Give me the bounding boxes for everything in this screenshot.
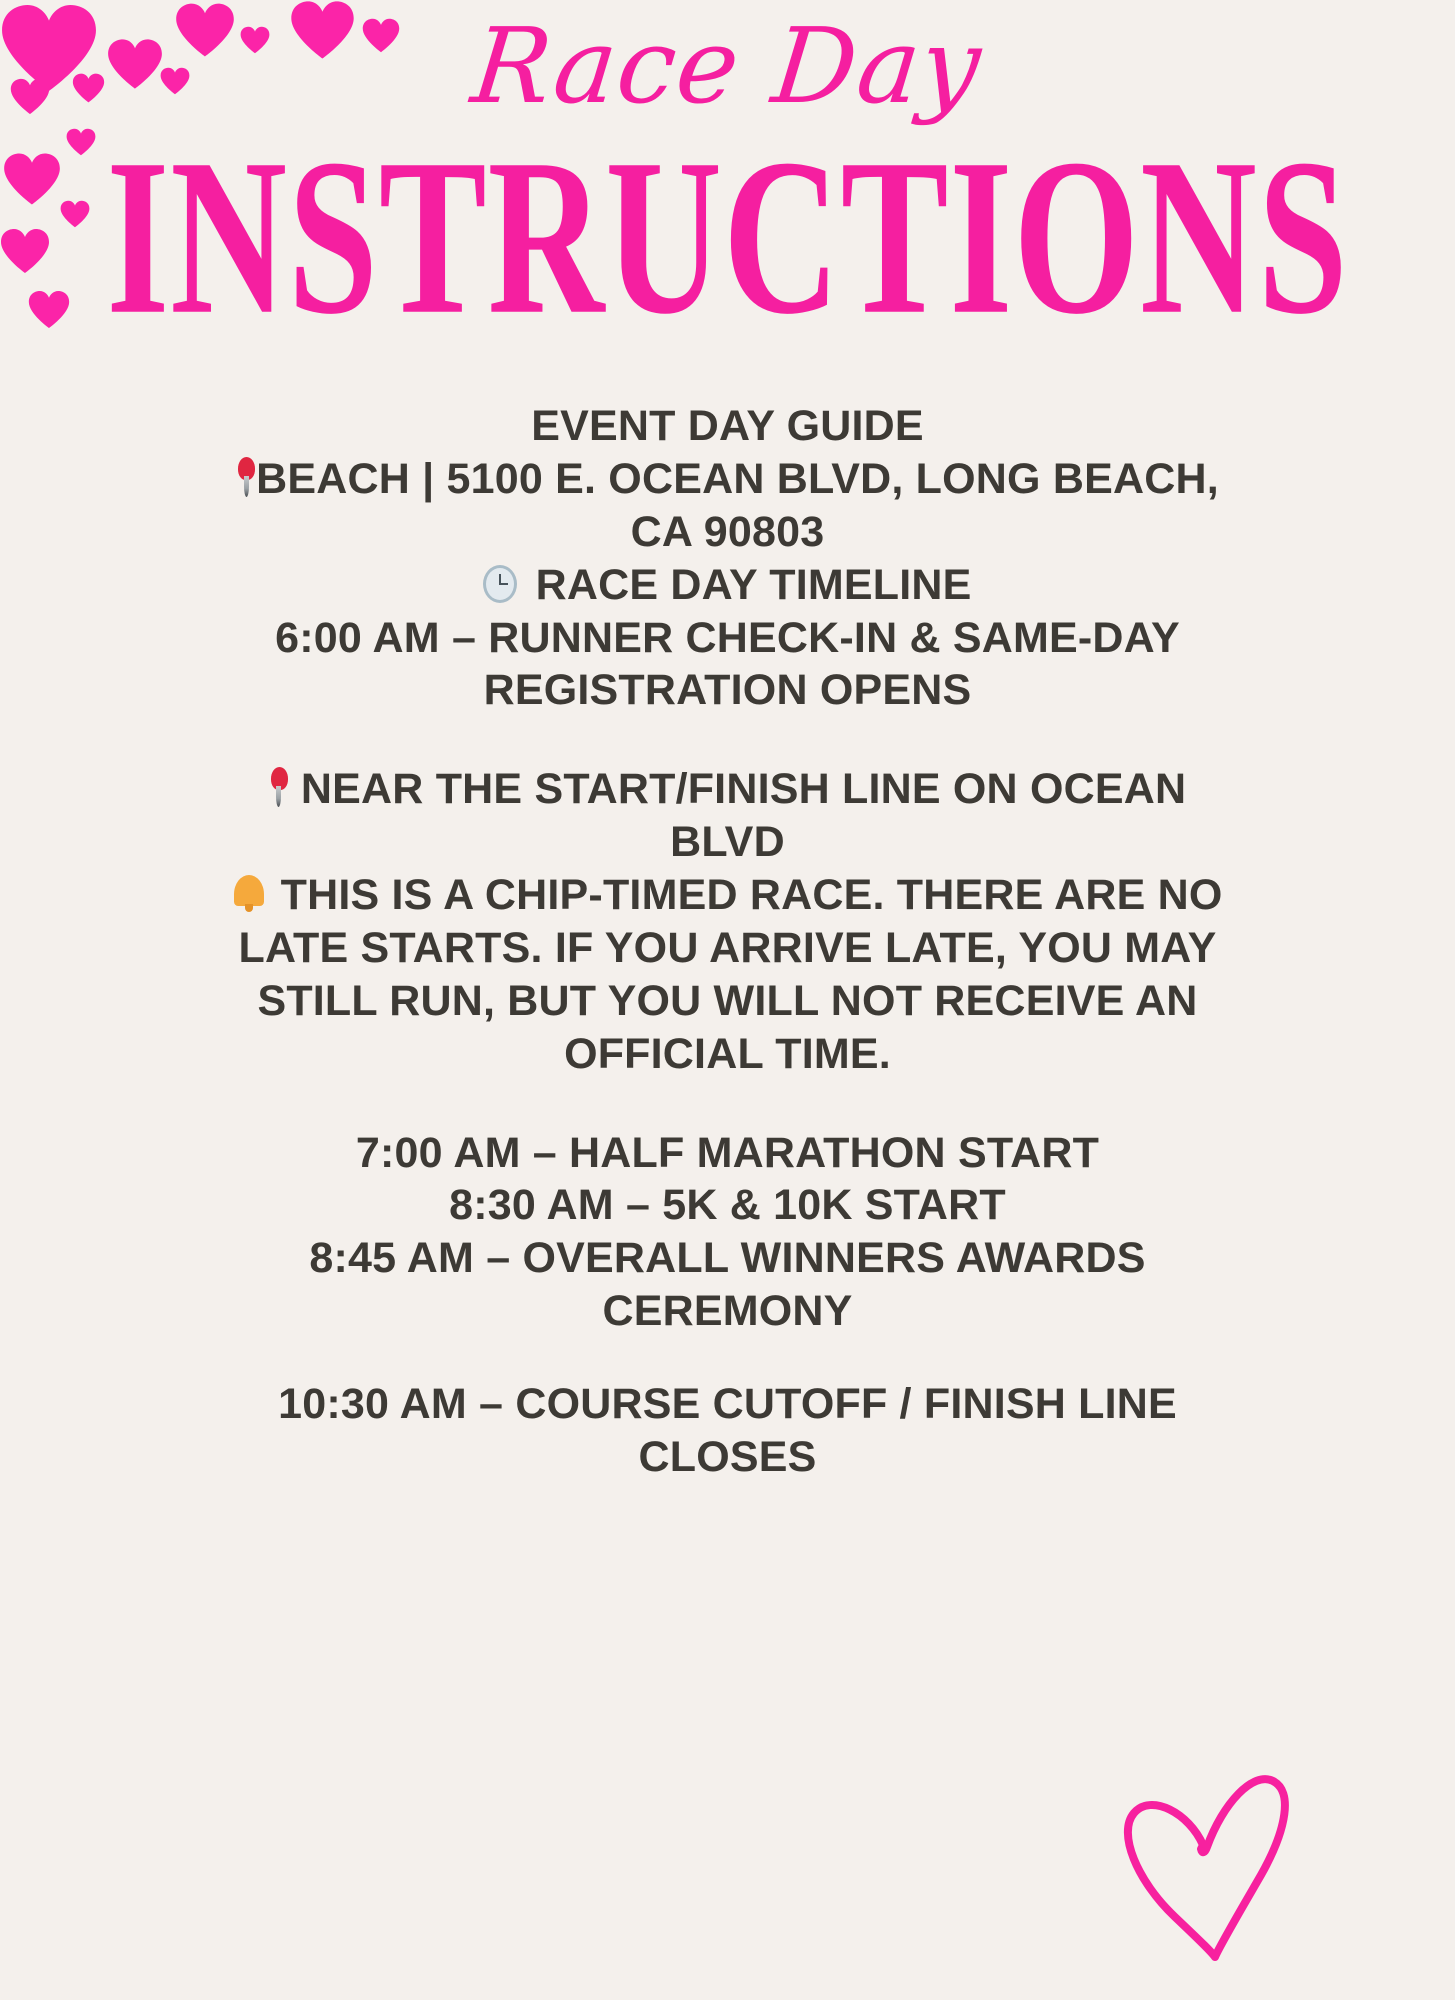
- bell-icon: [232, 873, 268, 915]
- location-line-2: CA 90803: [85, 506, 1370, 559]
- timeline-heading-line: RACE DAY TIMELINE: [85, 559, 1370, 612]
- startfinish-line-1-text: NEAR THE START/FINISH LINE ON OCEAN: [301, 765, 1186, 813]
- chip-warning-line-3: STILL RUN, BUT YOU WILL NOT RECEIVE AN: [85, 975, 1370, 1028]
- startfinish-line-2: BLVD: [85, 816, 1370, 869]
- script-title: Race Day: [0, 0, 1455, 118]
- timeline-heading-text: RACE DAY TIMELINE: [536, 561, 972, 609]
- chip-warning-line-2: LATE STARTS. IF YOU ARRIVE LATE, YOU MAY: [85, 922, 1370, 975]
- location-line-1-text: BEACH | 5100 E. OCEAN BLVD, LONG BEACH,: [256, 455, 1219, 503]
- subtitle: EVENT DAY GUIDE: [85, 400, 1370, 453]
- awards-line-1: 8:45 AM – OVERALL WINNERS AWARDS: [85, 1232, 1370, 1285]
- clock-icon: [483, 565, 523, 605]
- poster-header: Race Day INSTRUCTIONS: [0, 0, 1455, 281]
- location-line: BEACH | 5100 E. OCEAN BLVD, LONG BEACH,: [85, 453, 1370, 506]
- cutoff-line-1: 10:30 AM – COURSE CUTOFF / FINISH LINE: [85, 1378, 1370, 1431]
- spacer-1: [85, 717, 1370, 763]
- event-details: EVENT DAY GUIDE BEACH | 5100 E. OCEAN BL…: [85, 400, 1370, 1484]
- cutoff-line-2: CLOSES: [85, 1431, 1370, 1484]
- half-marathon-start: 7:00 AM – HALF MARATHON START: [85, 1127, 1370, 1180]
- round-pushpin-icon: [236, 455, 256, 499]
- checkin-line-1: 6:00 AM – RUNNER CHECK-IN & SAME-DAY: [85, 612, 1370, 665]
- spacer-2: [85, 1081, 1370, 1127]
- page-title: INSTRUCTIONS: [44, 118, 1412, 330]
- checkin-line-2: REGISTRATION OPENS: [85, 664, 1370, 717]
- hand-drawn-heart-icon: [1115, 1755, 1345, 1970]
- chip-warning-line-1: THIS IS A CHIP-TIMED RACE. THERE ARE NO: [85, 869, 1370, 922]
- awards-line-2: CEREMONY: [85, 1285, 1370, 1338]
- five-ten-k-start: 8:30 AM – 5K & 10K START: [85, 1179, 1370, 1232]
- spacer-3: [85, 1338, 1370, 1378]
- race-day-instructions-poster: Race Day INSTRUCTIONS EVENT DAY GUIDE BE…: [0, 0, 1455, 2000]
- chip-warning-line-1-text: THIS IS A CHIP-TIMED RACE. THERE ARE NO: [281, 871, 1223, 919]
- chip-warning-line-4: OFFICIAL TIME.: [85, 1028, 1370, 1081]
- startfinish-line: NEAR THE START/FINISH LINE ON OCEAN: [85, 763, 1370, 816]
- round-pushpin-icon-2: [269, 765, 289, 809]
